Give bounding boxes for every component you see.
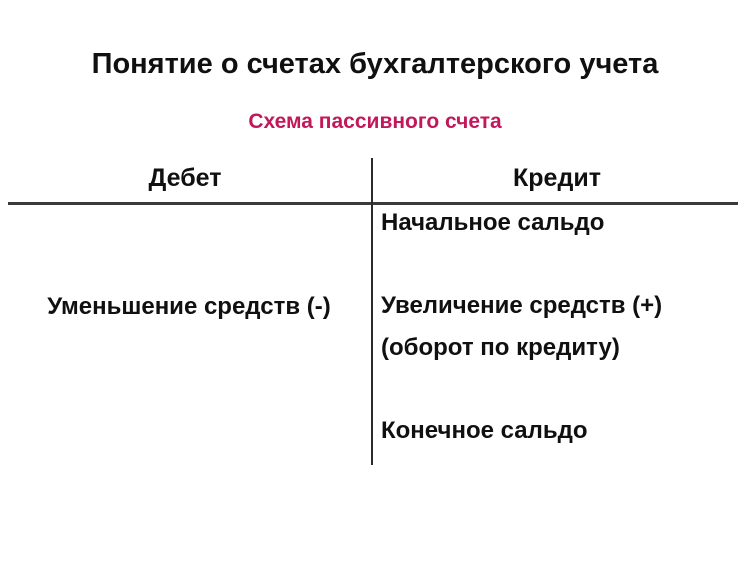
account-schema-table: Дебет Кредит Уменьшение средств (-) Нача… xyxy=(0,155,750,475)
credit-column-body: Начальное сальдо Увеличение средств (+) … xyxy=(381,207,743,462)
header-divider-line xyxy=(8,202,738,205)
credit-entry-turnover: (оборот по кредиту) xyxy=(381,334,620,362)
debit-entry-decrease: Уменьшение средств (-) xyxy=(10,293,368,321)
debit-column-body: Уменьшение средств (-) xyxy=(10,207,368,462)
credit-entry-closing-balance: Конечное сальдо xyxy=(381,417,588,445)
column-header-debit: Дебет xyxy=(60,164,310,193)
credit-entry-opening-balance: Начальное сальдо xyxy=(381,209,604,237)
slide-canvas: Понятие о счетах бухгалтерского учета Сх… xyxy=(0,0,750,561)
column-divider-line xyxy=(371,158,373,465)
column-header-credit: Кредит xyxy=(432,164,682,193)
credit-entry-increase: Увеличение средств (+) xyxy=(381,292,662,320)
page-subtitle: Схема пассивного счета xyxy=(0,110,750,134)
page-title: Понятие о счетах бухгалтерского учета xyxy=(0,48,750,81)
